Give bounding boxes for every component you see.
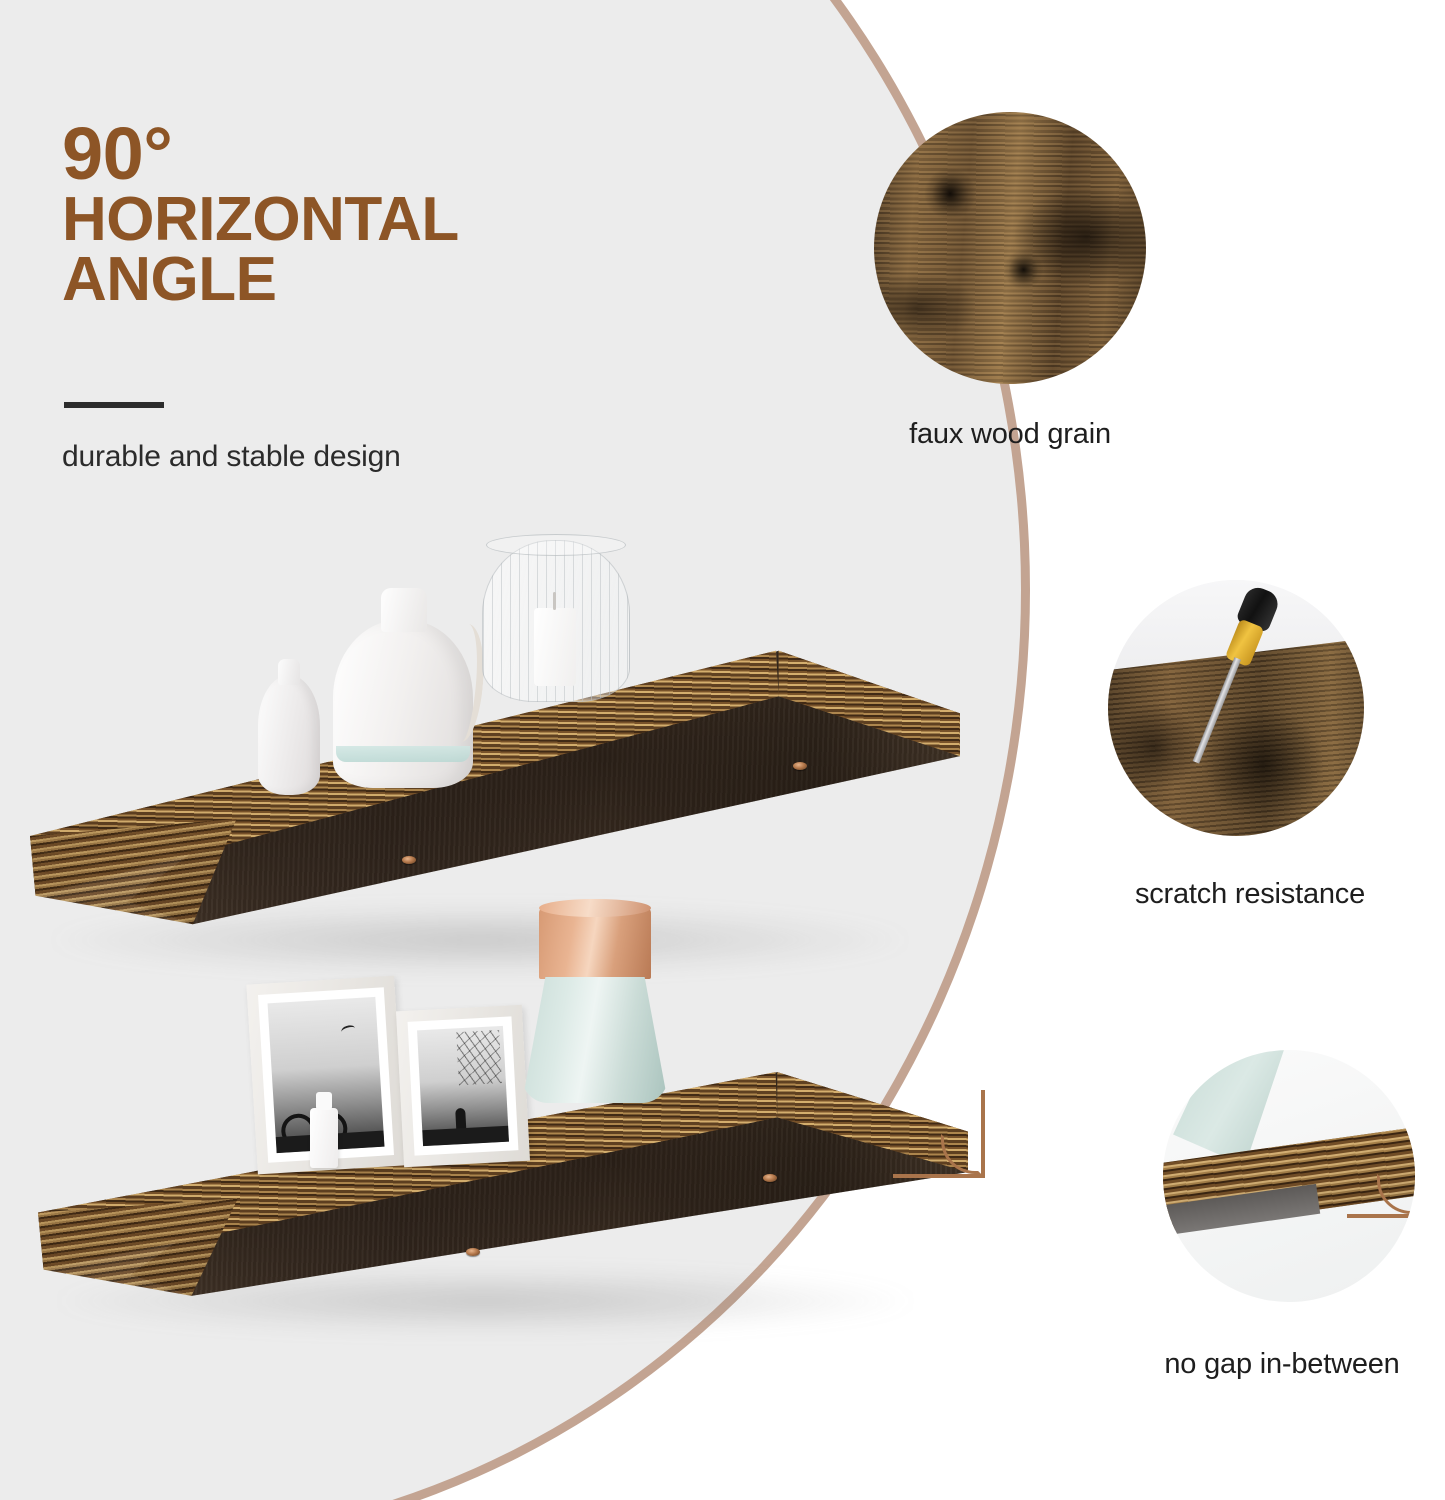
headline-line-1: 90°: [62, 118, 682, 190]
mint-copper-vase-mint-body: [522, 977, 668, 1103]
ribbed-glass-hurricane: [482, 540, 630, 702]
screwdriver-on-board-icon: [1108, 580, 1364, 836]
small-white-vase-neck: [278, 659, 300, 685]
mint-copper-vase-rim: [539, 899, 651, 917]
pillar-candle: [534, 608, 576, 686]
feature-caption-no-gap-in-between: no gap in-between: [1112, 1348, 1445, 1381]
photo-bird-silhouette: [341, 1024, 357, 1036]
feature-caption-scratch-resistance: scratch resistance: [1060, 878, 1440, 911]
shelf-flush-to-wall-icon: [1163, 1050, 1415, 1302]
picture-frame-small-photo: [417, 1026, 509, 1146]
angle-marker-horizontal-leg: [1347, 1214, 1415, 1218]
candle-wick: [553, 592, 556, 610]
headline-subtitle: durable and stable design: [62, 440, 702, 474]
angle-marker-arc: [941, 1134, 981, 1174]
small-white-vase: [258, 675, 320, 795]
lower-shelf-screw-hole-left: [466, 1248, 480, 1256]
angle-marker-no-gap-circle: [1347, 1142, 1415, 1218]
headline-divider-rule: [64, 402, 164, 408]
marker-cap: [316, 1092, 332, 1110]
angle-marker-vertical-leg: [981, 1090, 985, 1178]
white-jug-neck: [381, 588, 427, 632]
headline-line-2: HORIZONTAL: [62, 190, 682, 250]
white-jug-mint-band: [336, 746, 470, 762]
white-picture-frame-small: [396, 1005, 530, 1167]
angle-marker-lower-shelf: [893, 1090, 985, 1178]
photo-tree-branches: [456, 1030, 502, 1086]
upper-shelf-screw-hole-left: [402, 856, 416, 864]
hurricane-rim: [486, 534, 626, 556]
feature-caption-faux-wood-grain: faux wood grain: [830, 418, 1190, 451]
white-marker: [310, 1108, 338, 1168]
headline-line-3: ANGLE: [62, 250, 682, 310]
white-jug-vase: [333, 620, 473, 788]
product-feature-image: 90° HORIZONTAL ANGLE durable and stable …: [0, 0, 1445, 1500]
mint-copper-vase: [520, 907, 670, 1103]
headline-block: 90° HORIZONTAL ANGLE: [62, 118, 682, 310]
angle-marker-horizontal-leg: [893, 1174, 985, 1178]
mint-copper-vase-copper-top: [539, 907, 651, 979]
wood-grain-swatch-icon: [874, 112, 1146, 384]
upper-shelf-screw-hole-right: [793, 762, 807, 770]
angle-marker-arc: [1377, 1174, 1415, 1214]
